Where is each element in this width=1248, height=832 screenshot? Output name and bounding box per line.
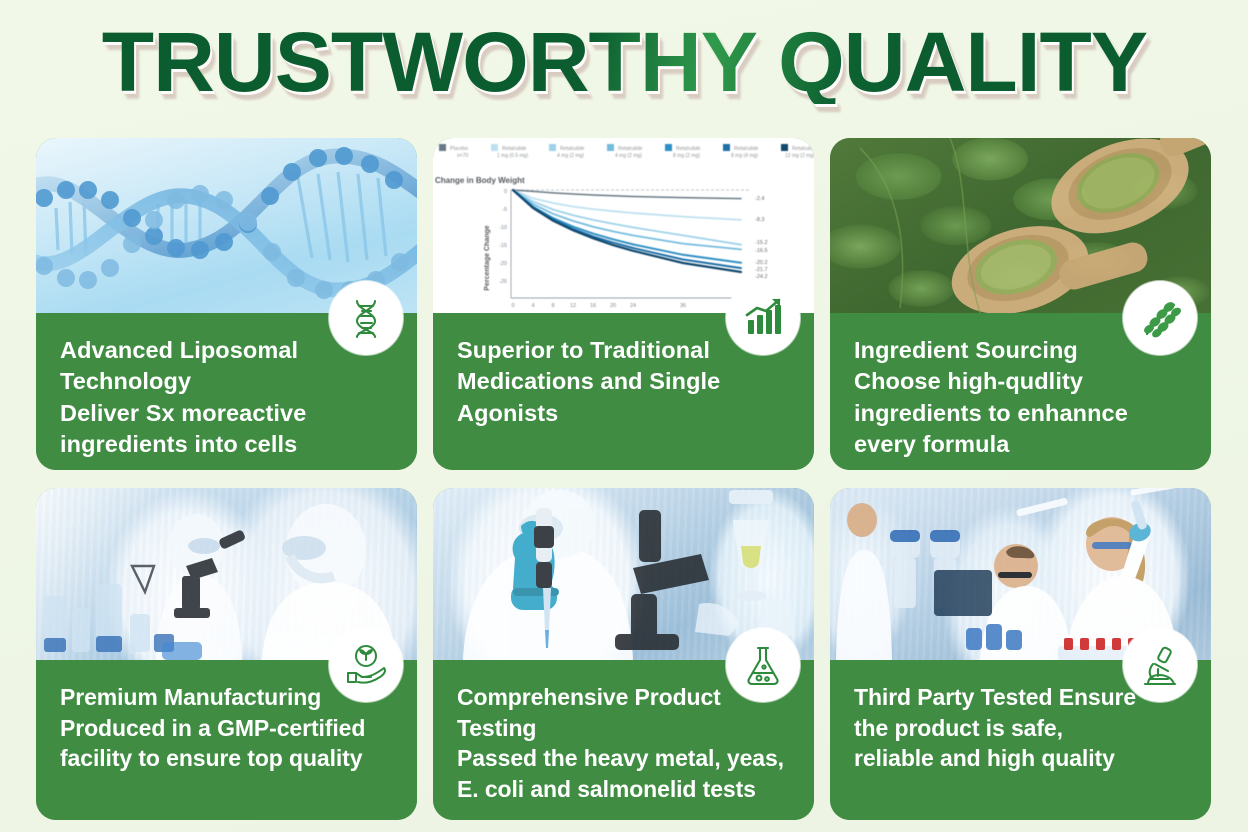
svg-text:Retatrutide: Retatrutide (502, 146, 527, 152)
svg-text:Change in Body Weight: Change in Body Weight (435, 176, 525, 185)
bar-chart-growth-icon (726, 281, 800, 355)
svg-text:-10: -10 (499, 225, 507, 231)
svg-text:-15.2: -15.2 (755, 240, 768, 246)
svg-text:-5: -5 (502, 207, 507, 213)
svg-text:Retatrutide: Retatrutide (734, 146, 759, 152)
svg-text:0: 0 (511, 303, 514, 309)
svg-text:8 mg (4 mg): 8 mg (4 mg) (731, 153, 758, 159)
svg-text:Retatrutide: Retatrutide (618, 146, 643, 152)
microscope-icon (1123, 628, 1197, 702)
feature-card-superior-to-traditional-medications[interactable]: Placebon=70 Retatrutide1 mg (0.5 mg) Ret… (433, 138, 814, 470)
hand-holding-sprout-icon (329, 628, 403, 702)
feature-card-ingredient-sourcing[interactable]: Ingredient Sourcing Choose high-qudlity … (830, 138, 1211, 470)
card-description: Advanced Liposomal Technology Deliver Sx… (60, 335, 397, 460)
svg-text:12: 12 (570, 303, 576, 309)
svg-text:24: 24 (630, 303, 636, 309)
svg-text:-15: -15 (499, 243, 507, 249)
card-description: Ingredient Sourcing Choose high-qudlity … (854, 335, 1191, 460)
svg-text:-21.7: -21.7 (755, 267, 768, 273)
feature-card-advanced-liposomal-technology[interactable]: Advanced Liposomal Technology Deliver Sx… (36, 138, 417, 470)
svg-text:-2.4: -2.4 (755, 196, 764, 202)
svg-text:12 mg (2 mg): 12 mg (2 mg) (785, 153, 814, 159)
svg-text:-24.2: -24.2 (755, 274, 768, 280)
svg-text:Percentage Change: Percentage Change (484, 225, 491, 290)
svg-text:-8.3: -8.3 (755, 217, 764, 223)
dna-icon (329, 281, 403, 355)
page-header: TRUSTWORTHY QUALITY (0, 0, 1248, 118)
svg-text:Placebo: Placebo (450, 146, 468, 152)
svg-text:Retatrutide: Retatrutide (792, 146, 814, 152)
svg-text:Retatrutide: Retatrutide (560, 146, 585, 152)
svg-text:-25: -25 (499, 279, 507, 285)
feature-card-third-party-tested[interactable]: Third Party Tested Ensure the product is… (830, 488, 1211, 820)
svg-text:4 mg (2 mg): 4 mg (2 mg) (557, 153, 584, 159)
svg-text:-20.2: -20.2 (755, 260, 768, 266)
svg-text:4: 4 (531, 303, 534, 309)
svg-text:0: 0 (504, 189, 507, 195)
svg-text:Retatrutide: Retatrutide (676, 146, 701, 152)
svg-text:1 mg (0.5 mg): 1 mg (0.5 mg) (497, 153, 528, 159)
leaf-branch-icon (1123, 281, 1197, 355)
flask-icon (726, 628, 800, 702)
svg-text:36: 36 (680, 303, 686, 309)
feature-card-grid: Advanced Liposomal Technology Deliver Sx… (36, 138, 1212, 820)
svg-text:4 mg (2 mg): 4 mg (2 mg) (615, 153, 642, 159)
page-title: TRUSTWORTHY QUALITY (101, 20, 1146, 104)
card-description: Comprehensive Product Testing Passed the… (457, 682, 794, 804)
svg-text:16: 16 (590, 303, 596, 309)
svg-text:-20: -20 (499, 261, 507, 267)
svg-text:n=70: n=70 (457, 153, 468, 159)
feature-card-premium-manufacturing[interactable]: Premium Manufacturing Produced in a GMP-… (36, 488, 417, 820)
svg-text:20: 20 (610, 303, 616, 309)
svg-text:-16.5: -16.5 (755, 248, 768, 254)
svg-text:8: 8 (551, 303, 554, 309)
feature-card-comprehensive-product-testing[interactable]: Comprehensive Product Testing Passed the… (433, 488, 814, 820)
svg-text:8 mg (2 mg): 8 mg (2 mg) (673, 153, 700, 159)
